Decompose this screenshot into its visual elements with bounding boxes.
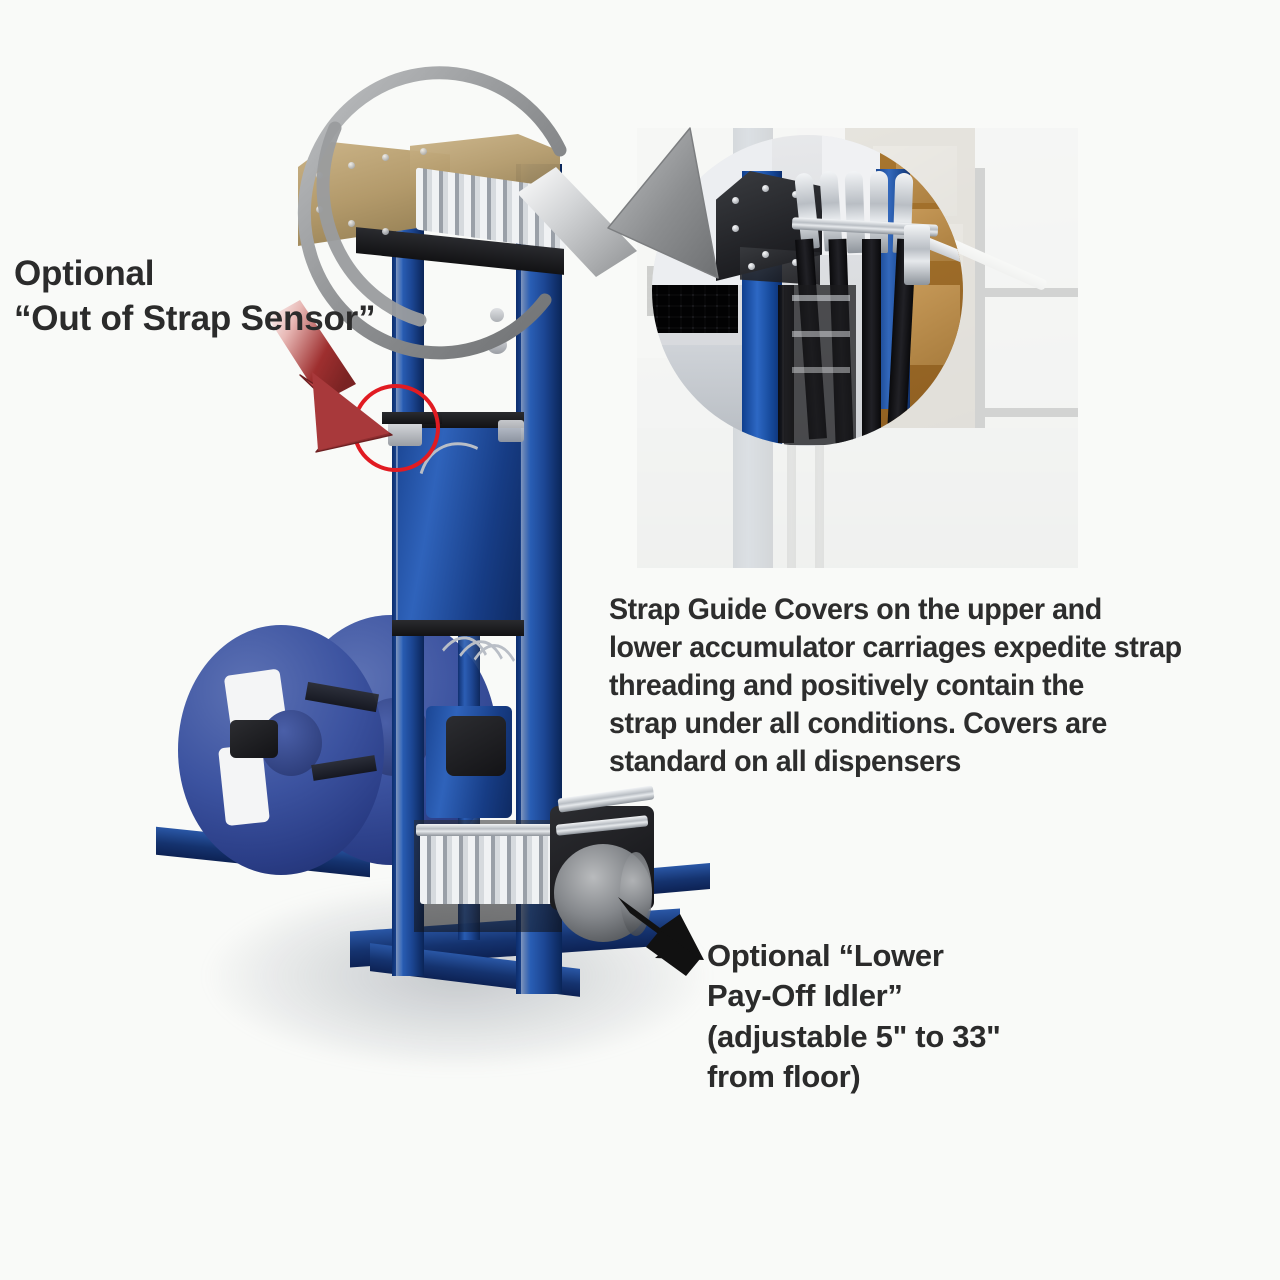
sensor-bracket	[382, 412, 442, 424]
lower-motor	[446, 716, 506, 776]
carriage-bottom-plate	[392, 620, 524, 636]
body-copy-line1: Strap Guide Covers on the upper and	[609, 591, 1251, 629]
diagram-canvas: Optional “Out of Strap Sensor” Strap Gui…	[0, 0, 1280, 1280]
callout-sensor-line2: “Out of Strap Sensor”	[14, 297, 444, 342]
inset-mount-plate	[904, 225, 930, 285]
body-copy-line3: threading and positively contain the	[609, 667, 1251, 705]
strap-guide-cover-description: Strap Guide Covers on the upper and lowe…	[609, 591, 1251, 781]
sensor-mirror	[498, 420, 524, 442]
strap-guide-cover-photo-inset	[637, 128, 1078, 568]
cover-rivet	[316, 206, 323, 213]
cover-rivet	[420, 148, 427, 155]
callout-idler-line1: Optional “Lower	[707, 936, 1127, 976]
inset-strap	[862, 239, 881, 443]
mast-sensor-nub	[487, 336, 507, 354]
callout-sensor-line1: Optional	[14, 252, 444, 297]
cover-rivet	[382, 228, 389, 235]
lower-roller-bank	[420, 832, 556, 904]
cover-rivet	[348, 162, 355, 169]
callout-idler-line4: from floor)	[707, 1057, 1127, 1097]
lower-cover-lip	[416, 824, 562, 836]
body-copy-line4: strap under all conditions. Covers are	[609, 705, 1251, 743]
cover-rivet	[316, 172, 323, 179]
magnified-circle-view	[652, 135, 963, 446]
cover-rivet	[348, 220, 355, 227]
callout-out-of-strap-sensor: Optional “Out of Strap Sensor”	[14, 252, 444, 342]
reel-axle-front	[230, 720, 278, 758]
mast-nub-upper	[490, 308, 504, 322]
callout-idler-line3: (adjustable 5" to 33"	[707, 1017, 1127, 1057]
body-copy-line5: standard on all dispensers	[609, 743, 1251, 781]
cover-rivet	[382, 154, 389, 161]
out-of-strap-sensor	[388, 422, 422, 446]
callout-idler-line2: Pay-Off Idler”	[707, 976, 1127, 1016]
callout-lower-pay-off-idler: Optional “Lower Pay-Off Idler” (adjustab…	[707, 936, 1127, 1097]
body-copy-line2: lower accumulator carriages expedite str…	[609, 629, 1251, 667]
idler-wheel-rim	[620, 852, 652, 936]
